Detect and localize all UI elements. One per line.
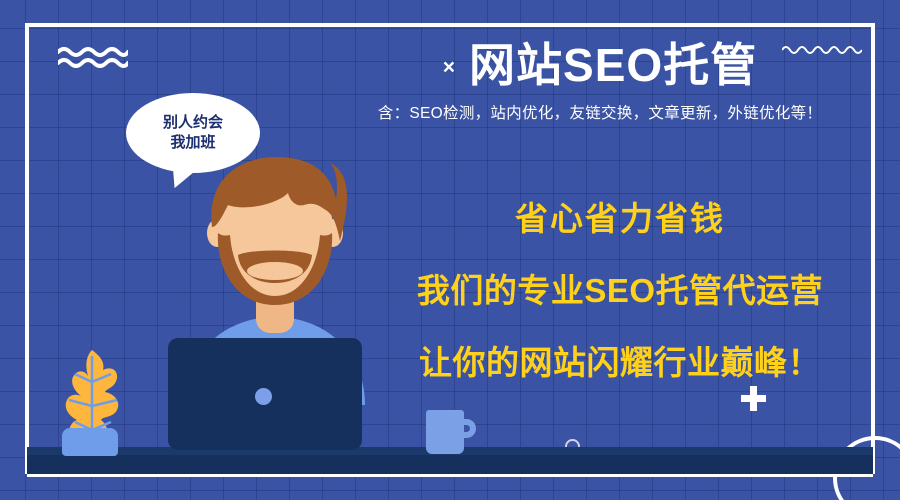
seo-banner: × 网站SEO托管 含：SEO检测，站内优化，友链交换，文章更新，外链优化等！ …	[0, 0, 900, 500]
slogan-line-1: 省心省力省钱	[370, 192, 870, 240]
page-subtitle: 含：SEO检测，站内优化，友链交换，文章更新，外链优化等！	[330, 101, 870, 123]
plant-pot	[62, 428, 118, 456]
page-title: 网站SEO托管	[469, 40, 757, 91]
slogan-line-3: 让你的网站闪耀行业巅峰！	[370, 336, 870, 384]
laptop-logo-icon	[255, 388, 272, 405]
speech-bubble: 别人约会 我加班	[126, 93, 260, 173]
slogan-line-2: 我们的专业SEO托管代运营	[370, 264, 870, 312]
person-eye-left	[243, 223, 253, 231]
title-row: × 网站SEO托管	[330, 40, 870, 91]
desk-edge-line	[27, 474, 873, 477]
headline-block: × 网站SEO托管 含：SEO检测，站内优化，友链交换，文章更新，外链优化等！	[330, 40, 870, 123]
person-mouth	[247, 262, 303, 280]
speech-bubble-line-2: 我加班	[170, 133, 215, 153]
mug-handle	[459, 419, 476, 438]
desk-surface	[27, 455, 873, 475]
wave-left-icon	[58, 46, 128, 68]
speech-bubble-line-1: 别人约会	[163, 113, 223, 133]
person-eye-right	[297, 223, 307, 231]
title-bullet-icon: ×	[443, 57, 455, 78]
plus-icon	[741, 386, 766, 411]
slogan-block: 省心省力省钱 我们的专业SEO托管代运营 让你的网站闪耀行业巅峰！	[370, 192, 870, 384]
